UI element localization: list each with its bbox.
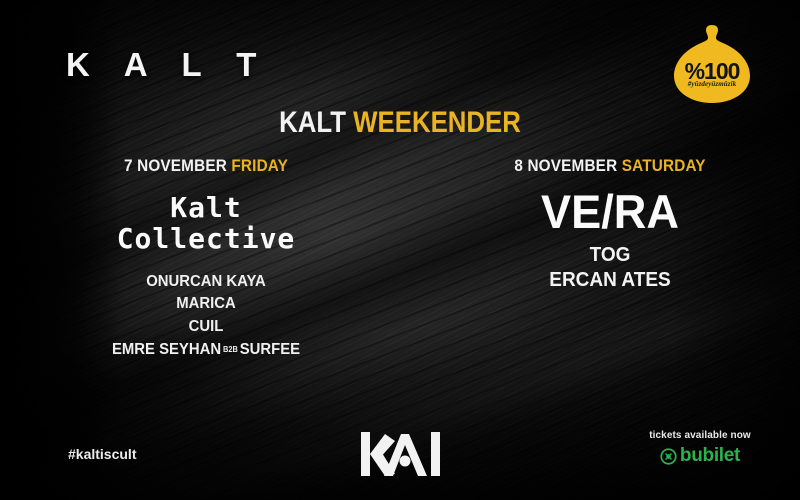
title-part-weekender: WEEKENDER xyxy=(353,106,521,139)
lineup-day-friday: 7 NOVEMBER FRIDAY Kalt Collective ONURCA… xyxy=(36,156,376,362)
poster-content: K A L T %100 #yüzdeyüzmüzik KALT WEEKEND… xyxy=(0,0,800,500)
friday-date: 7 NOVEMBER xyxy=(124,156,227,175)
saturday-date: 8 NOVEMBER xyxy=(514,156,617,175)
bubilet-link[interactable]: bubilet xyxy=(620,445,780,467)
list-item-b2b: EMRE SEYHANB2BSURFEE xyxy=(48,339,364,362)
saturday-support-list: TOG ERCAN ATES xyxy=(449,243,772,293)
lineup-day-saturday: 8 NOVEMBER SATURDAY VE/RA TOG ERCAN ATES xyxy=(440,156,780,293)
ticket-info: tickets available now bubilet xyxy=(620,430,780,467)
percent-100-badge-subtext: #yüzdeyüzmüzik xyxy=(666,80,758,88)
friday-headliner: Kalt Collective xyxy=(36,192,376,255)
friday-headliner-line2: Collective xyxy=(36,223,376,254)
bubilet-icon xyxy=(660,448,677,465)
brand-wordmark: K A L T xyxy=(66,46,269,84)
list-item: MARICA xyxy=(48,293,364,316)
percent-100-badge: %100 #yüzdeyüzmüzik xyxy=(666,23,758,105)
friday-support-list: ONURCAN KAYA MARICA CUIL EMRE SEYHANB2BS… xyxy=(48,271,364,362)
poster-title: KALT WEEKENDER xyxy=(56,106,744,140)
saturday-weekday: SATURDAY xyxy=(622,156,706,175)
list-item: ONURCAN KAYA xyxy=(48,271,364,294)
saturday-date-header: 8 NOVEMBER SATURDAY xyxy=(457,156,763,176)
hashtag-text: #kaltiscult xyxy=(68,446,136,462)
list-item: CUIL xyxy=(48,316,364,339)
event-poster: K A L T %100 #yüzdeyüzmüzik KALT WEEKEND… xyxy=(0,0,800,500)
b2b-artist-right: SURFEE xyxy=(240,341,300,358)
kalt-monogram-icon xyxy=(355,428,445,480)
saturday-headliner: VE/RA xyxy=(447,188,773,235)
b2b-separator: B2B xyxy=(221,345,240,354)
bubilet-wordmark: bubilet xyxy=(680,445,740,467)
b2b-artist-left: EMRE SEYHAN xyxy=(112,341,221,358)
friday-weekday: FRIDAY xyxy=(231,156,288,175)
title-part-kalt: KALT xyxy=(279,106,346,139)
tickets-available-label: tickets available now xyxy=(620,430,780,441)
friday-headliner-line1: Kalt xyxy=(36,192,376,223)
friday-date-header: 7 NOVEMBER FRIDAY xyxy=(53,156,359,176)
list-item: ERCAN ATES xyxy=(449,268,772,293)
list-item: TOG xyxy=(449,243,772,268)
